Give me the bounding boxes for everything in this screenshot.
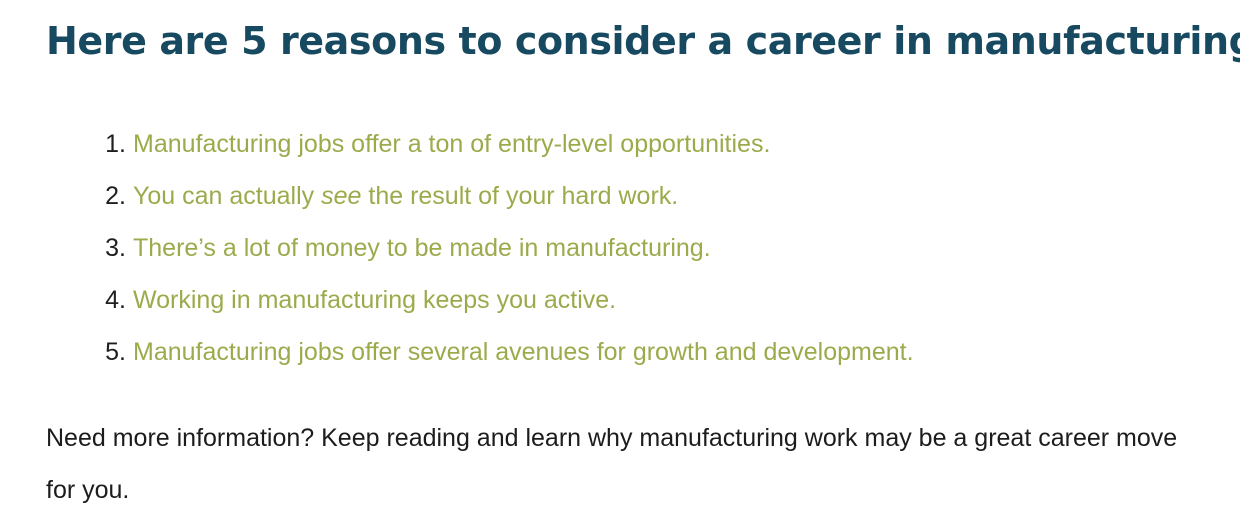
- reason-link-2[interactable]: You can actually see the result of your …: [133, 182, 678, 210]
- list-item: You can actually see the result of your …: [100, 170, 1240, 222]
- reason-link-4[interactable]: Working in manufacturing keeps you activ…: [133, 286, 616, 314]
- reason-text-2-emphasis: see: [321, 182, 361, 210]
- reason-text-5: Manufacturing jobs offer several avenues…: [133, 338, 914, 366]
- page-title: Here are 5 reasons to consider a career …: [46, 18, 1236, 66]
- list-item: Manufacturing jobs offer a ton of entry-…: [100, 118, 1240, 170]
- reason-text-1: Manufacturing jobs offer a ton of entry-…: [133, 130, 770, 158]
- reason-link-5[interactable]: Manufacturing jobs offer several avenues…: [133, 338, 914, 366]
- reason-text-3: There’s a lot of money to be made in man…: [133, 234, 711, 262]
- reasons-list: Manufacturing jobs offer a ton of entry-…: [46, 118, 1240, 378]
- reason-text-2-before: You can actually: [133, 182, 321, 210]
- reason-text-4: Working in manufacturing keeps you activ…: [133, 286, 616, 314]
- list-item: Manufacturing jobs offer several avenues…: [100, 326, 1240, 378]
- reason-link-3[interactable]: There’s a lot of money to be made in man…: [133, 234, 711, 262]
- closing-paragraph: Need more information? Keep reading and …: [46, 412, 1194, 516]
- article-content-area: Here are 5 reasons to consider a career …: [0, 0, 1240, 514]
- list-item: There’s a lot of money to be made in man…: [100, 222, 1240, 274]
- reason-text-2-after: the result of your hard work.: [361, 182, 678, 210]
- list-item: Working in manufacturing keeps you activ…: [100, 274, 1240, 326]
- reason-link-1[interactable]: Manufacturing jobs offer a ton of entry-…: [133, 130, 770, 158]
